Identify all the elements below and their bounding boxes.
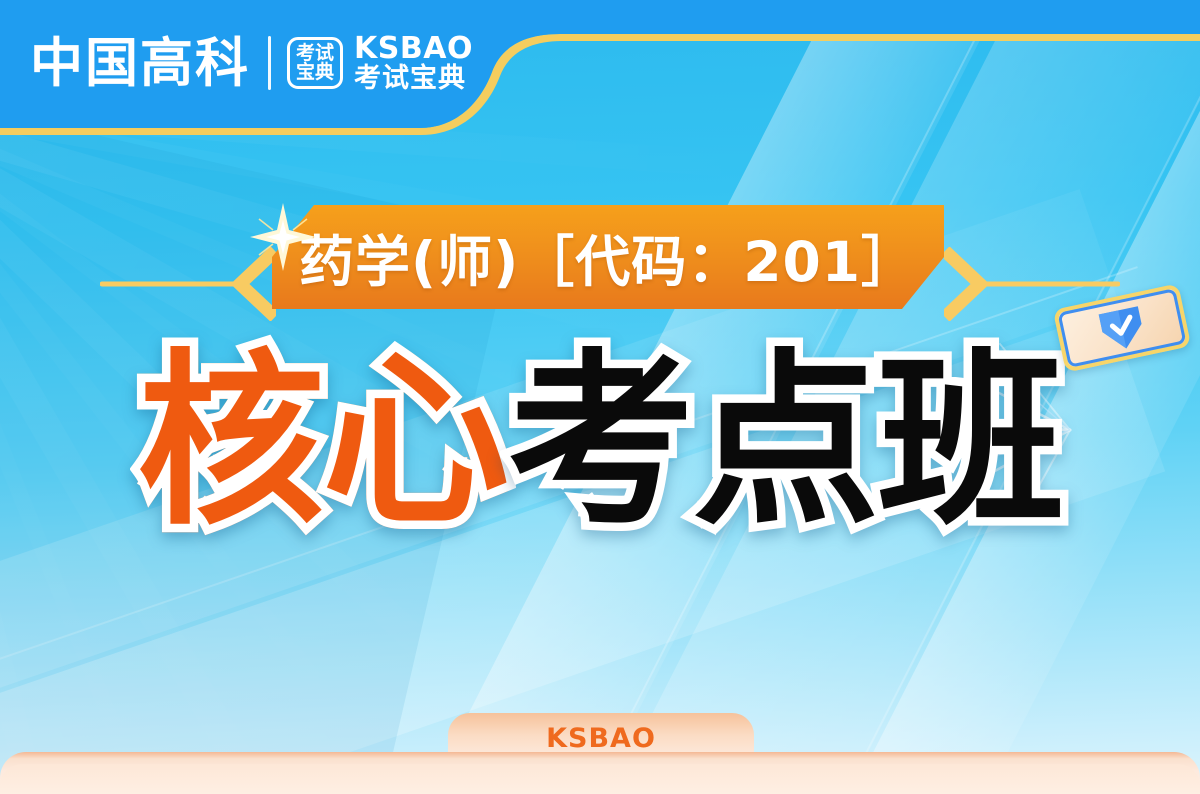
brand-name-en: KSBAO xyxy=(354,34,473,65)
brand-name-cn: 中国高科 xyxy=(30,37,250,90)
headline-part-dark: 考点班 xyxy=(508,349,1063,536)
ksbao-badge-icon: 考试 宝典 xyxy=(287,37,343,89)
subject-title: 药学(师)［代码：201］ xyxy=(299,217,917,297)
headline-part-orange: 核心 xyxy=(137,349,507,536)
chevron-left-icon xyxy=(100,247,276,321)
brand-subname-cn: 考试宝典 xyxy=(354,65,473,93)
brand-logo[interactable]: 中国高科 考试 宝典 KSBAO 考试宝典 xyxy=(30,34,473,92)
badge-line-2: 宝典 xyxy=(296,63,334,82)
bottom-card-inner xyxy=(0,764,1200,794)
brand-text-block: KSBAO 考试宝典 xyxy=(354,34,473,92)
subject-plate: 药学(师)［代码：201］ xyxy=(272,205,944,309)
main-headline: 核心考点班 xyxy=(0,330,1200,555)
gem-check-icon xyxy=(1094,301,1151,356)
subject-banner: 药学(师)［代码：201］ xyxy=(0,205,1200,315)
logo-divider xyxy=(268,36,271,90)
page-header: 中国高科 考试 宝典 KSBAO 考试宝典 xyxy=(0,0,1200,136)
bottom-tab-label: KSBAO xyxy=(546,723,656,754)
poster-canvas: 中国高科 考试 宝典 KSBAO 考试宝典 药学(师)［代码：201］ xyxy=(0,0,1200,794)
